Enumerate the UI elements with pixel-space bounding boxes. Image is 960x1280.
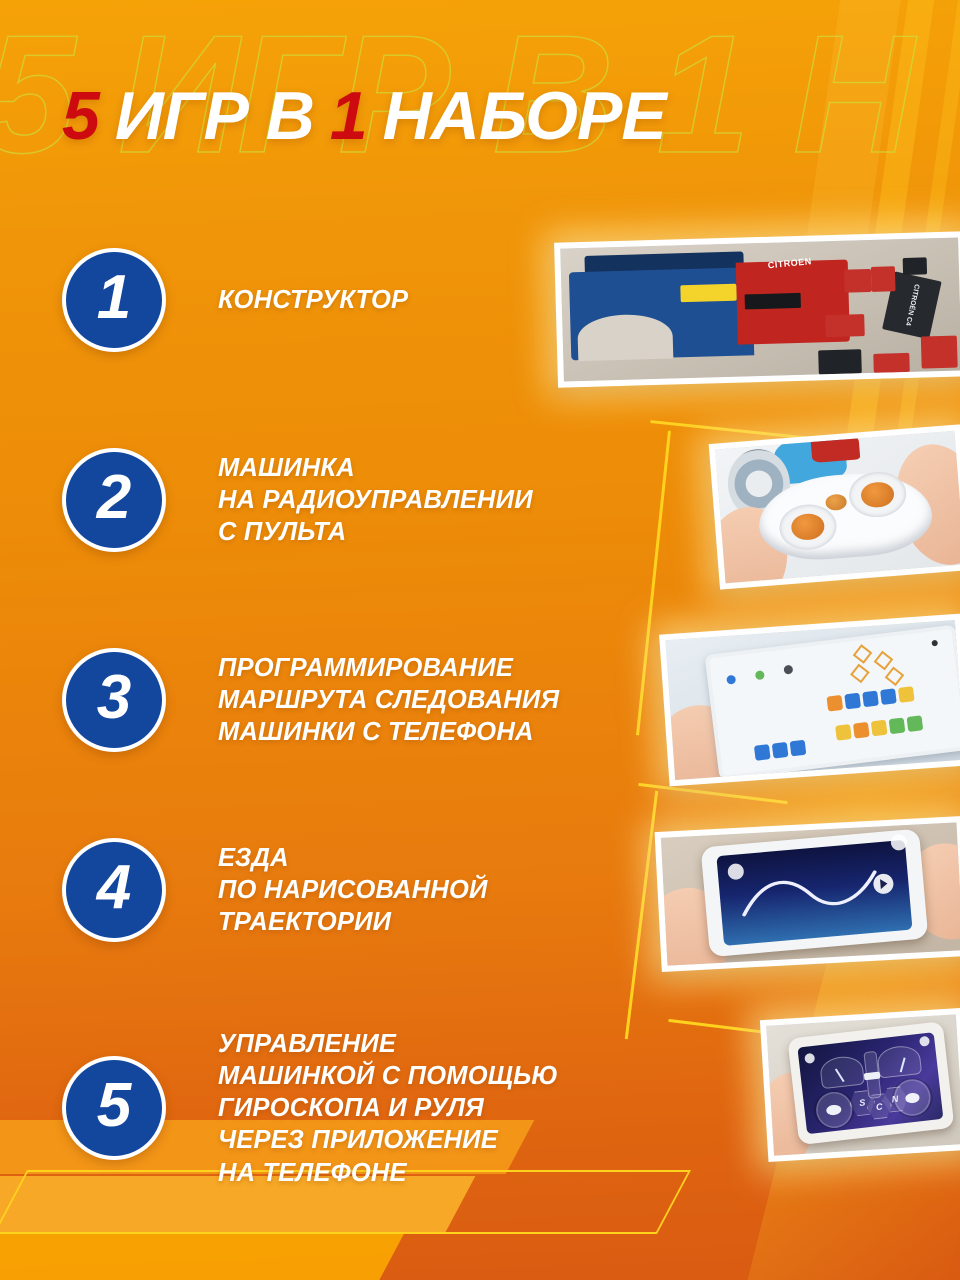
phone-device	[701, 828, 929, 957]
speed-gauge-left	[818, 1055, 864, 1090]
phone-trajectory-photo	[655, 816, 960, 972]
tablet-programming-photo	[659, 614, 960, 787]
program-block	[771, 742, 788, 759]
feature-5-line-5: НА ТЕЛЕФОНЕ	[218, 1157, 558, 1189]
poly2-line-top	[638, 783, 787, 804]
app-icon-back	[725, 675, 735, 685]
feature-5-line-4: ЧЕРЕЗ ПРИЛОЖЕНИЕ	[218, 1124, 558, 1156]
feature-5-line-3: ГИРОСКОПА И РУЛЯ	[218, 1092, 558, 1124]
program-block	[835, 725, 852, 742]
feature-item-1: 1 КОНСТРУКТОР	[62, 248, 408, 352]
phone-device: S C N	[787, 1022, 954, 1146]
feature-2-line-3: С ПУЛЬТА	[218, 516, 533, 548]
brick-car-photo-inner: CITROEN CITROËN C4	[560, 237, 960, 381]
brick-car-yellow-part	[681, 284, 737, 303]
feature-text-1: КОНСТРУКТОР	[218, 284, 408, 316]
badge-2: 2	[62, 448, 166, 552]
headline-number-1: 1	[330, 78, 367, 154]
headline-word-1: ИГР В	[115, 78, 314, 154]
badge-3: 3	[62, 648, 166, 752]
program-palette-right	[835, 716, 923, 741]
poly2-line-left	[625, 791, 658, 1040]
feature-text-2: МАШИНКА НА РАДИОУПРАВЛЕНИИ С ПУЛЬТА	[218, 452, 533, 548]
phone-screen: S C N	[798, 1032, 944, 1134]
brick-piece	[903, 257, 927, 275]
feature-item-2: 2 МАШИНКА НА РАДИОУПРАВЛЕНИИ С ПУЛЬТА	[62, 448, 533, 552]
feature-item-3: 3 ПРОГРАММИРОВАНИЕ МАРШРУТА СЛЕДОВАНИЯ М…	[62, 648, 559, 752]
settings-icon[interactable]	[919, 1036, 930, 1047]
toy-car-red-blur	[810, 431, 860, 464]
feature-item-5: 5 УПРАВЛЕНИЕ МАШИНКОЙ С ПОМОЩЬЮ ГИРОСКОП…	[62, 1028, 558, 1189]
brick-piece	[921, 336, 958, 369]
feature-5-line-1: УПРАВЛЕНИЕ	[218, 1028, 558, 1060]
feature-text-4: ЕЗДА ПО НАРИСОВАННОЙ ТРАЕКТОРИИ	[218, 842, 488, 938]
promo-poster: 5 ИГР В 1 Н 5ИГР В1НАБОРЕ 1 КОНСТРУКТОР …	[0, 0, 960, 1280]
badge-number-4: 4	[97, 857, 131, 919]
rc-remote-photo	[709, 424, 960, 589]
program-block	[754, 744, 771, 761]
confetti-shape	[852, 644, 872, 664]
confetti-shape	[885, 667, 905, 687]
feature-1-line-1: КОНСТРУКТОР	[218, 284, 408, 316]
program-block	[853, 722, 870, 739]
phone-gamepad-photo-inner: S C N	[766, 1014, 960, 1155]
feature-3-line-2: МАРШРУТА СЛЕДОВАНИЯ	[218, 684, 559, 716]
program-block	[898, 686, 915, 703]
diagonal-stripe-1	[844, 0, 942, 459]
badge-number-2: 2	[97, 467, 131, 529]
app-icon-settings	[783, 665, 793, 675]
headline-word-2: НАБОРЕ	[383, 78, 666, 154]
brick-piece	[874, 353, 910, 373]
feature-2-line-1: МАШИНКА	[218, 452, 533, 484]
settings-icon[interactable]	[891, 834, 908, 851]
brick-piece	[871, 266, 896, 292]
rc-remote-photo-inner	[715, 431, 960, 583]
program-block	[888, 718, 905, 735]
brick-piece	[818, 349, 862, 374]
program-block	[880, 688, 897, 705]
feature-3-line-1: ПРОГРАММИРОВАНИЕ	[218, 652, 559, 684]
badge-5: 5	[62, 1056, 166, 1160]
badge-number-1: 1	[97, 267, 131, 329]
badge-number-3: 3	[97, 667, 131, 729]
program-block	[826, 695, 843, 712]
app-icon-play	[754, 670, 764, 680]
feature-text-3: ПРОГРАММИРОВАНИЕ МАРШРУТА СЛЕДОВАНИЯ МАШ…	[218, 652, 559, 748]
feature-4-line-2: ПО НАРИСОВАННОЙ	[218, 874, 488, 906]
program-block	[789, 740, 806, 757]
program-block	[870, 720, 887, 737]
feature-text-5: УПРАВЛЕНИЕ МАШИНКОЙ С ПОМОЩЬЮ ГИРОСКОПА …	[218, 1028, 558, 1189]
joystick-left[interactable]	[811, 1089, 856, 1132]
program-block	[906, 716, 923, 733]
program-block	[844, 693, 861, 710]
feature-2-line-2: НА РАДИОУПРАВЛЕНИИ	[218, 484, 533, 516]
feature-item-4: 4 ЕЗДА ПО НАРИСОВАННОЙ ТРАЕКТОРИИ	[62, 838, 488, 942]
program-sequence-active	[826, 686, 914, 711]
feature-4-line-3: ТРАЕКТОРИИ	[218, 906, 488, 938]
brick-car-sticker	[745, 292, 801, 310]
badge-4: 4	[62, 838, 166, 942]
brick-car-photo: CITROEN CITROËN C4	[554, 231, 960, 387]
program-palette-left	[754, 740, 806, 761]
feature-4-line-1: ЕЗДА	[218, 842, 488, 874]
brick-car-plate-text: CITROËN C4	[904, 284, 920, 327]
phone-trajectory-photo-inner	[661, 822, 960, 965]
page-title: 5ИГР В1НАБОРЕ	[62, 82, 666, 150]
brick-piece	[825, 315, 865, 337]
program-block	[862, 690, 879, 707]
headline-number-5: 5	[62, 78, 99, 154]
feature-5-line-2: МАШИНКОЙ С ПОМОЩЬЮ	[218, 1060, 558, 1092]
phone-gamepad-photo: S C N	[760, 1008, 960, 1162]
tablet-programming-photo-inner	[665, 620, 960, 780]
brick-piece	[844, 269, 872, 292]
speed-gauge-right	[876, 1044, 922, 1079]
back-icon[interactable]	[804, 1053, 815, 1064]
confetti-shape	[850, 664, 870, 684]
phone-screen	[717, 839, 913, 945]
brick-car-blue-body	[569, 267, 754, 360]
badge-number-5: 5	[97, 1075, 131, 1137]
badge-1: 1	[62, 248, 166, 352]
confetti-shape	[873, 651, 893, 671]
feature-3-line-3: МАШИНКИ С ТЕЛЕФОНА	[218, 716, 559, 748]
bottom-band-3	[0, 1232, 405, 1280]
app-icon-close	[931, 640, 938, 647]
